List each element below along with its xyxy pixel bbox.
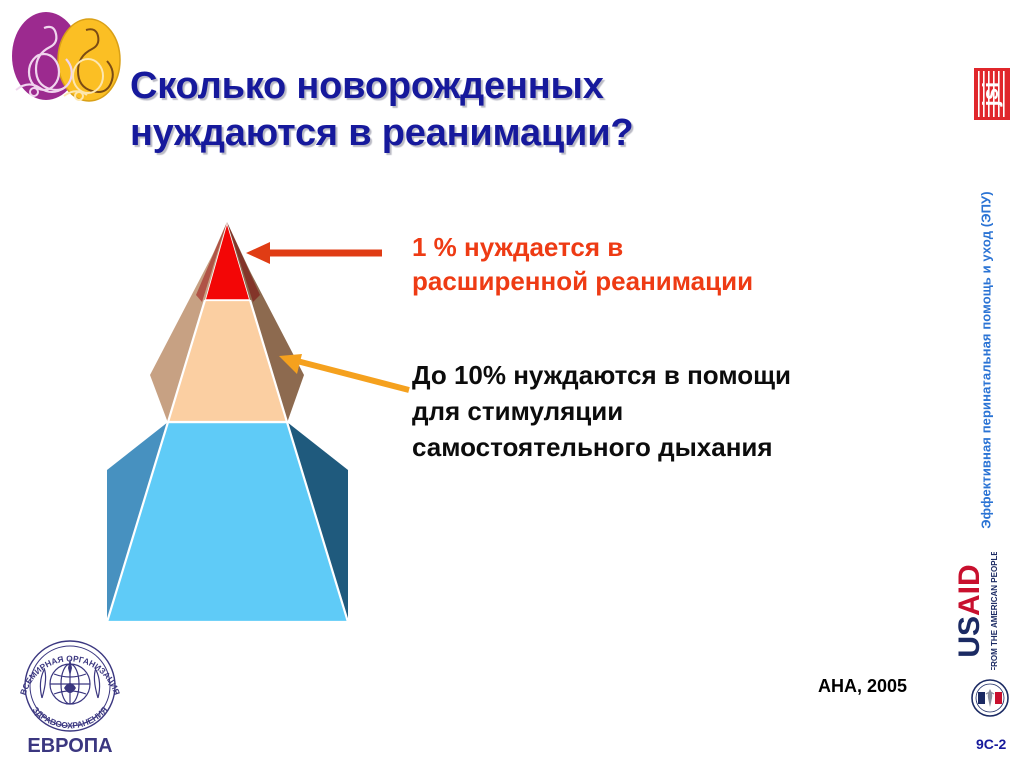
usaid-logo: USAID FROM THE AMERICAN PEOPLE xyxy=(958,552,1014,670)
source-credit: AHA, 2005 xyxy=(818,676,907,697)
svg-text:USAID: USAID xyxy=(958,564,986,657)
who-region-label: ЕВРОПА xyxy=(27,735,112,757)
slide-code: 9C-2 xyxy=(976,736,1006,752)
who-europe-logo: ВСЕМИРНАЯ ОРГАНИЗАЦИЯ ЗДРАВООХРАНЕНИЯ ЕВ… xyxy=(14,636,126,758)
red-arrow xyxy=(240,238,390,268)
pregnancy-couple-icon xyxy=(4,4,124,114)
callout-black-line-1: До 10% нуждаются в помощи xyxy=(412,358,972,394)
callout-red-line-2: расширенной реанимации xyxy=(412,264,812,298)
usaid-seal-icon xyxy=(970,678,1010,718)
slide-canvas: Сколько новорожденных нуждаются в реаним… xyxy=(0,0,1024,767)
svg-text:jsi: jsi xyxy=(978,82,1003,107)
callout-black-line-3: самостоятельного дыхания xyxy=(412,430,972,466)
callout-red-line-1: 1 % нуждается в xyxy=(412,230,812,264)
callout-advanced-resuscitation: 1 % нуждается в расширенной реанимации xyxy=(412,230,812,299)
vertical-program-label: Эффективная перинатальная помощь и уход … xyxy=(972,170,1000,550)
page-title: Сколько новорожденных нуждаются в реаним… xyxy=(130,63,770,156)
page-title-line-2: нуждаются в реанимации? xyxy=(130,110,770,156)
svg-text:FROM THE AMERICAN PEOPLE: FROM THE AMERICAN PEOPLE xyxy=(990,552,999,670)
callout-breathing-stimulation: До 10% нуждаются в помощи для стимуляции… xyxy=(412,358,972,466)
orange-arrow xyxy=(275,348,415,398)
page-title-line-1: Сколько новорожденных xyxy=(130,63,770,109)
vertical-program-label-text: Эффективная перинатальная помощь и уход … xyxy=(979,191,994,528)
resuscitation-pyramid-chart xyxy=(90,205,390,640)
jsi-logo: jsi xyxy=(974,68,1010,120)
callout-black-line-2: для стимуляции xyxy=(412,394,972,430)
